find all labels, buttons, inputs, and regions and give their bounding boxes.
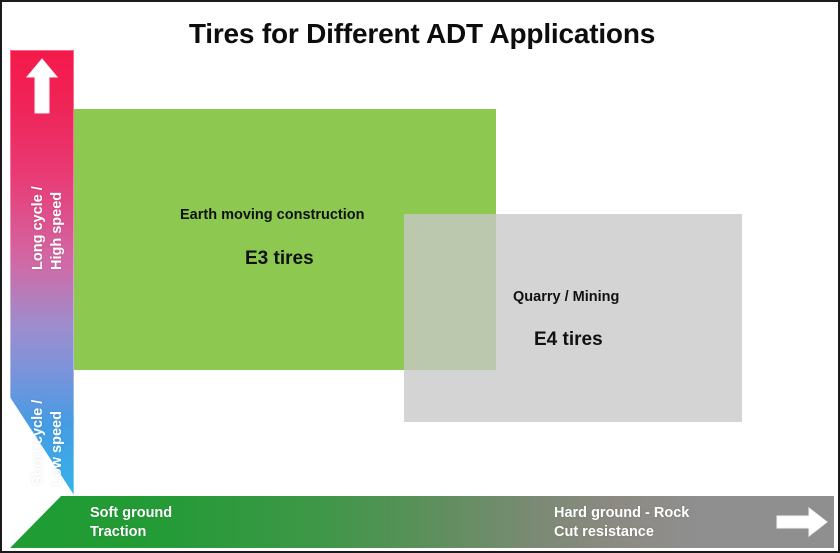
speed-axis-top-label-line1: Long cycle / <box>30 186 46 270</box>
speed-cycle-axis: Long cycle / High speed Short cycle / Lo… <box>10 50 74 495</box>
page-title: Tires for Different ADT Applications <box>2 18 840 50</box>
ground-axis-right-label: Hard ground - Rock Cut resistance <box>554 504 689 542</box>
speed-axis-bottom-label-line2: Low speed <box>49 411 65 486</box>
e4-application-box <box>404 214 742 422</box>
speed-axis-top-label-line2: High speed <box>49 192 65 270</box>
e4-box-caption: Quarry / Mining <box>513 289 619 305</box>
e4-box-title: E4 tires <box>534 329 603 351</box>
arrow-right-icon <box>776 507 828 537</box>
ground-axis-left-label-line1: Soft ground <box>90 504 172 523</box>
slide-canvas: Tires for Different ADT Applications Lon… <box>0 0 840 553</box>
e3-box-title: E3 tires <box>245 248 314 270</box>
arrow-up-icon <box>26 58 58 114</box>
ground-axis-left-label: Soft ground Traction <box>90 504 172 542</box>
ground-condition-axis: Soft ground Traction Hard ground - Rock … <box>10 496 834 548</box>
ground-axis-right-label-line1: Hard ground - Rock <box>554 504 689 523</box>
ground-axis-right-label-line2: Cut resistance <box>554 523 689 542</box>
e3-box-caption: Earth moving construction <box>180 207 365 223</box>
ground-axis-left-label-line2: Traction <box>90 523 172 542</box>
speed-axis-bottom-label-line1: Short cycle / <box>30 400 46 486</box>
